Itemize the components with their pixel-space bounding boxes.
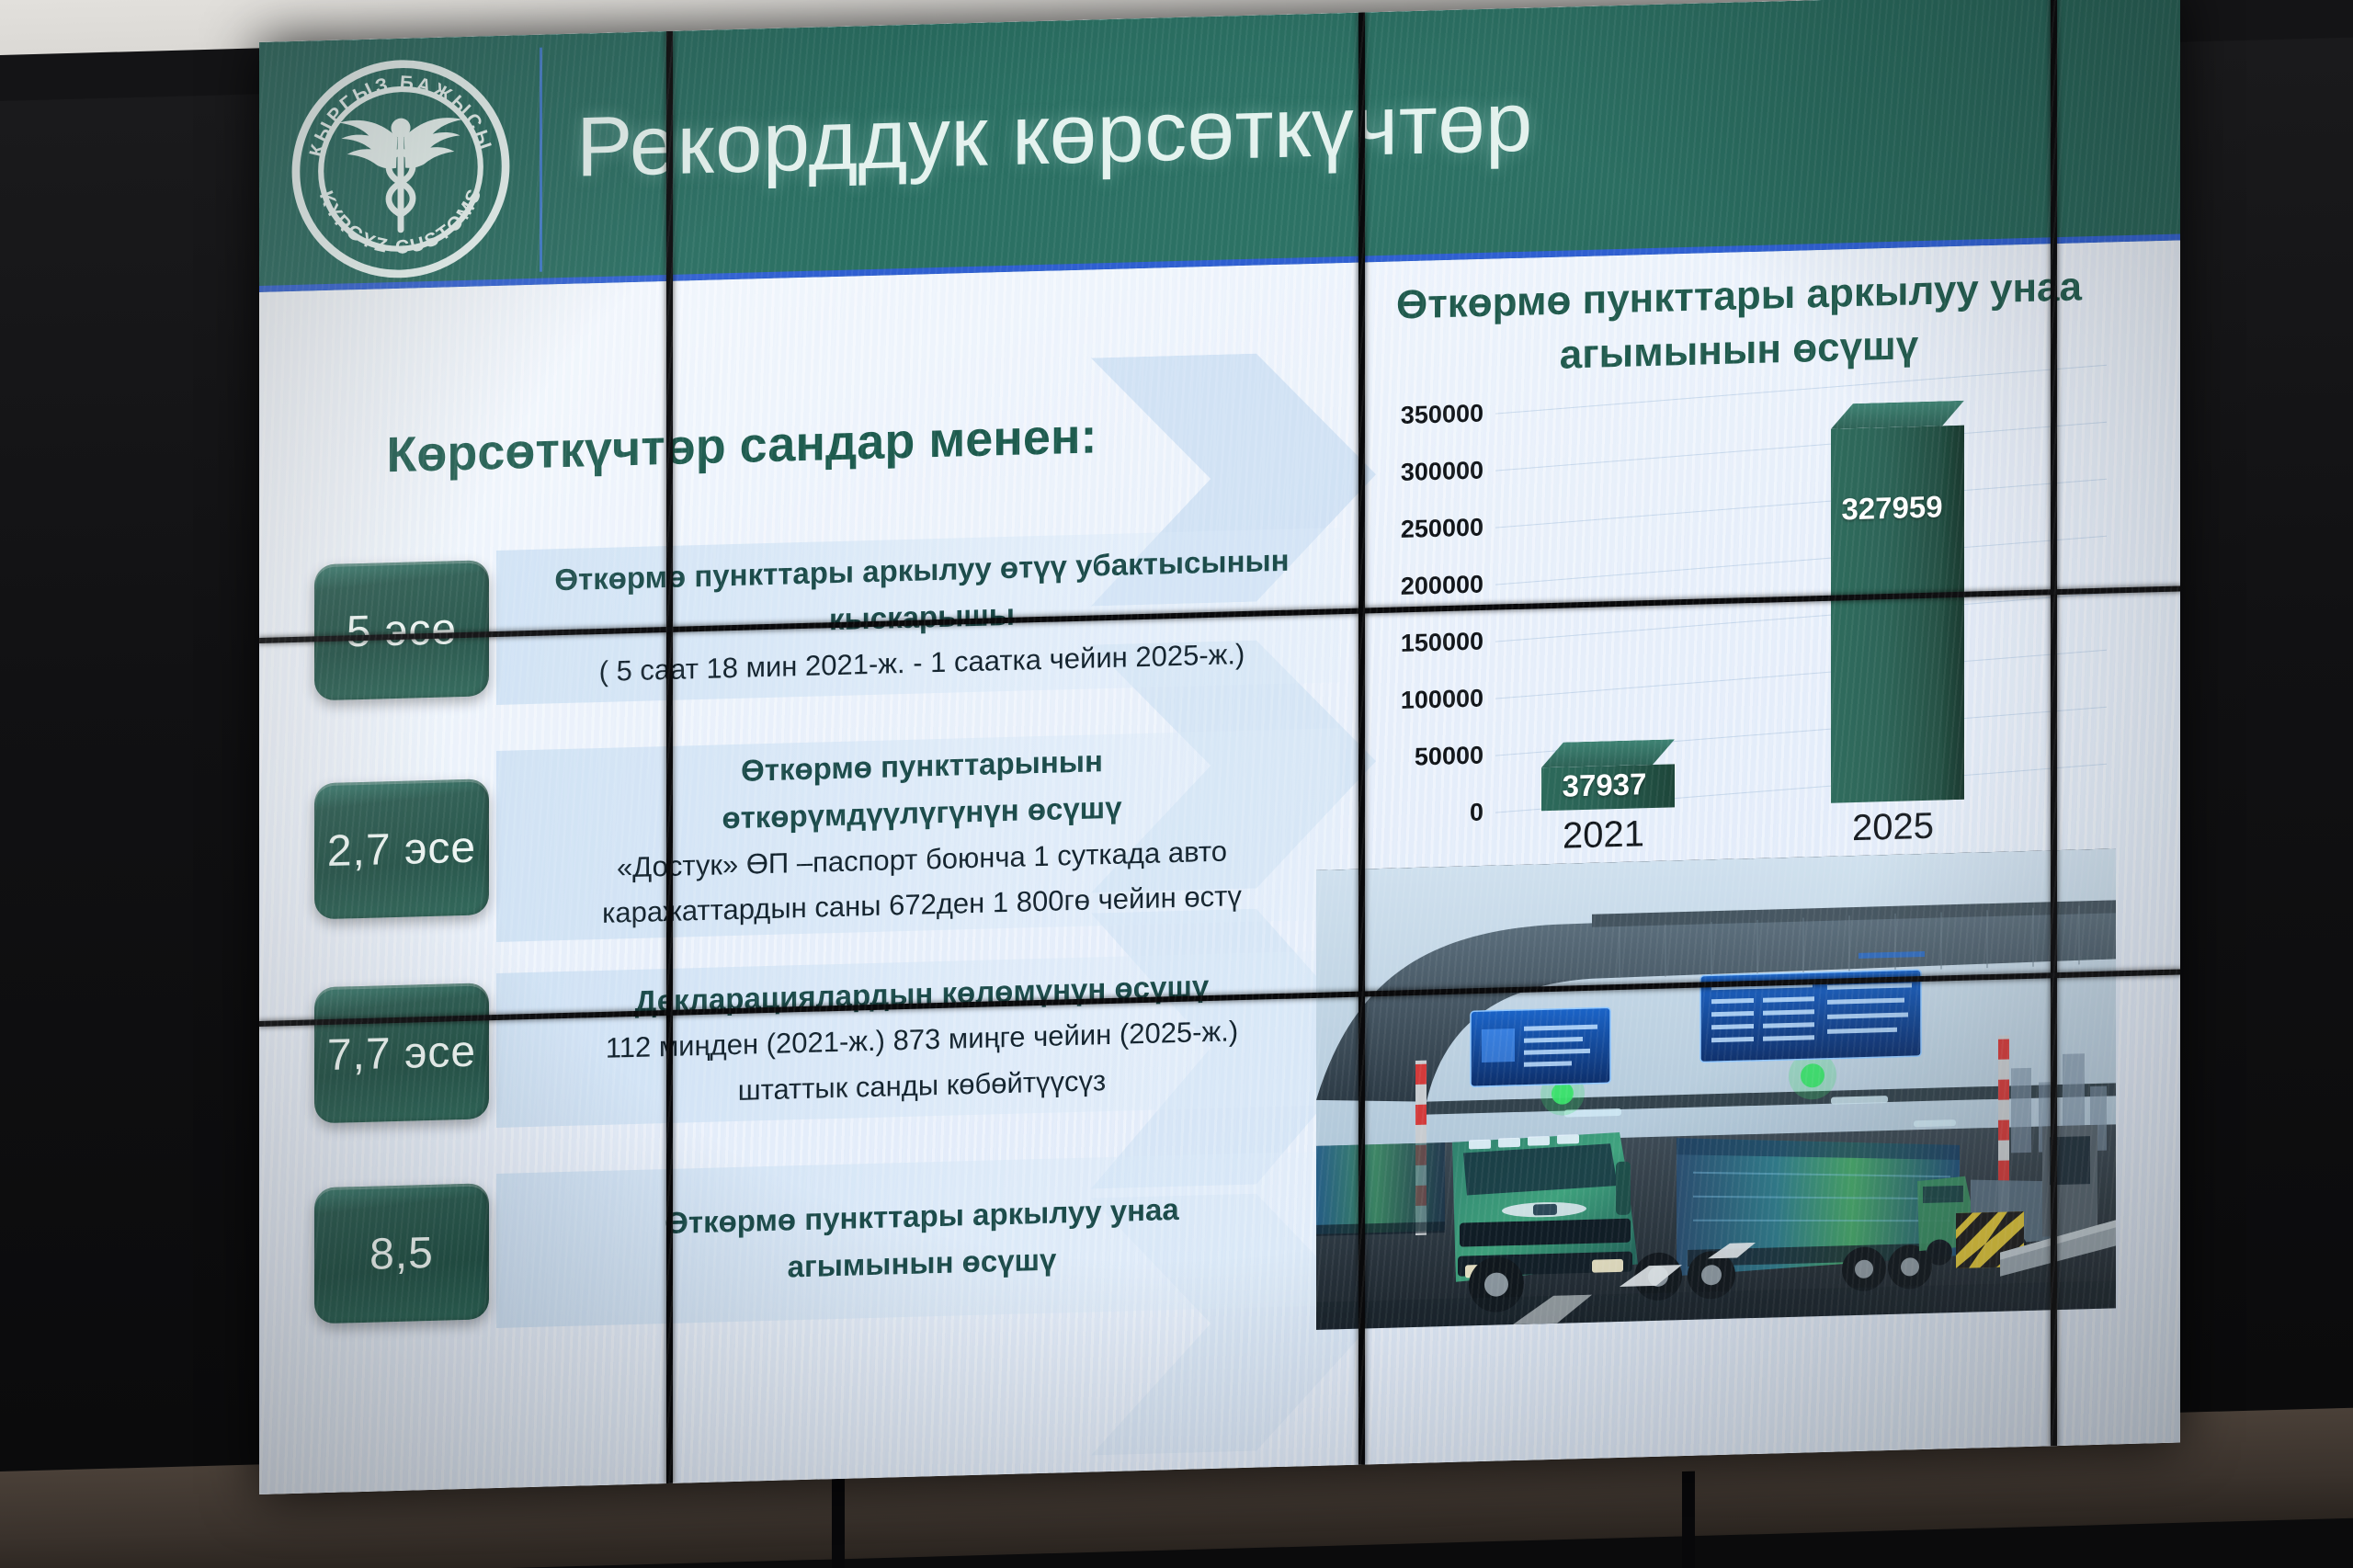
metric-badge-2-value: 2,7 эсе (327, 822, 476, 876)
bar-2025-side (1942, 426, 1964, 801)
plinth-seam-right (1682, 1471, 1695, 1568)
metric-badge-3[interactable]: 7,7 эсе (314, 983, 489, 1123)
bar-2025-top (1831, 401, 1964, 429)
y-tick-350000: 350000 (1318, 399, 1483, 432)
y-tick-150000: 150000 (1318, 627, 1483, 660)
metric-row-4[interactable]: 8,5 Өткөрмө пункттары аркылуу унаа агымы… (292, 1145, 1340, 1339)
metric-row-1[interactable]: 5 эсе Өткөрмө пункттары аркылуу өтүү уба… (292, 522, 1340, 716)
metric-badge-4-value: 8,5 (369, 1227, 434, 1279)
metric-row-2-text: Өткөрмө пункттарынын өткөрүмдүүлүгүнүн ө… (522, 732, 1322, 938)
bar-2025[interactable]: 327959 (1831, 384, 1964, 803)
metric-badge-4[interactable]: 8,5 (314, 1183, 489, 1324)
bar-2021-value-label: 37937 (1538, 766, 1671, 804)
x-label-2021: 2021 (1537, 812, 1670, 858)
vehicle-flow-bar-chart: 350000 300000 250000 200000 150000 10000… (1316, 380, 2116, 834)
metric-row-2[interactable]: 2,7 эсе Өткөрмө пункттарынын өткөрүмдүүл… (292, 722, 1340, 953)
conference-room: КЫРГЫЗ БАЖЫСЫ KYRGYZ CUSTOMS (0, 0, 2353, 1568)
slide-body: Көрсөткүчтөр сандар менен: 5 эсе Өткөрмө… (259, 240, 2180, 1494)
bar-2021[interactable]: 37937 (1541, 392, 1675, 811)
y-tick-300000: 300000 (1318, 456, 1483, 489)
metric-row-1-text: Өткөрмө пункттары аркылуу өтүү убактысын… (522, 536, 1322, 697)
metric-badge-1[interactable]: 5 эсе (314, 560, 489, 700)
left-section-title: Көрсөткүчтөр сандар менен: (351, 406, 1132, 484)
chart-y-axis: 350000 300000 250000 200000 150000 10000… (1316, 397, 1483, 834)
y-tick-200000: 200000 (1318, 570, 1483, 603)
border-checkpoint-photo (1316, 848, 2116, 1330)
video-wall[interactable]: КЫРГЫЗ БАЖЫСЫ KYRGYZ CUSTOMS (259, 0, 2180, 1494)
kyrgyz-customs-emblem-icon: КЫРГЫЗ БАЖЫСЫ KYRGYZ CUSTOMS (287, 51, 515, 286)
bar-2021-top (1541, 739, 1675, 767)
y-tick-100000: 100000 (1318, 684, 1483, 717)
metric-row-3[interactable]: 7,7 эсе Декларациялардын көлөмүнүн өсүшү… (292, 945, 1340, 1139)
metric-badge-3-value: 7,7 эсе (327, 1026, 476, 1080)
bar-2025-value-label: 327959 (1825, 489, 1959, 528)
chart-title: Өткөрмө пункттары аркылуу унаа агымынын … (1376, 259, 2102, 388)
header-divider (540, 48, 542, 272)
y-tick-50000: 50000 (1318, 741, 1483, 774)
metric-row-3-text: Декларациялардын көлөмүнүн өсүшү 112 миң… (522, 960, 1322, 1119)
x-label-2025: 2025 (1826, 805, 1960, 850)
y-tick-0: 0 (1318, 798, 1483, 831)
metric-badge-2[interactable]: 2,7 эсе (314, 778, 489, 919)
plinth-seam-left (832, 1471, 845, 1568)
metric-badge-1-value: 5 эсе (347, 604, 457, 657)
page-title: Рекорддук көрсөткүчтөр (576, 80, 1533, 190)
presentation-slide: КЫРГЫЗ БАЖЫСЫ KYRGYZ CUSTOMS (259, 0, 2180, 1494)
y-tick-250000: 250000 (1318, 513, 1483, 546)
